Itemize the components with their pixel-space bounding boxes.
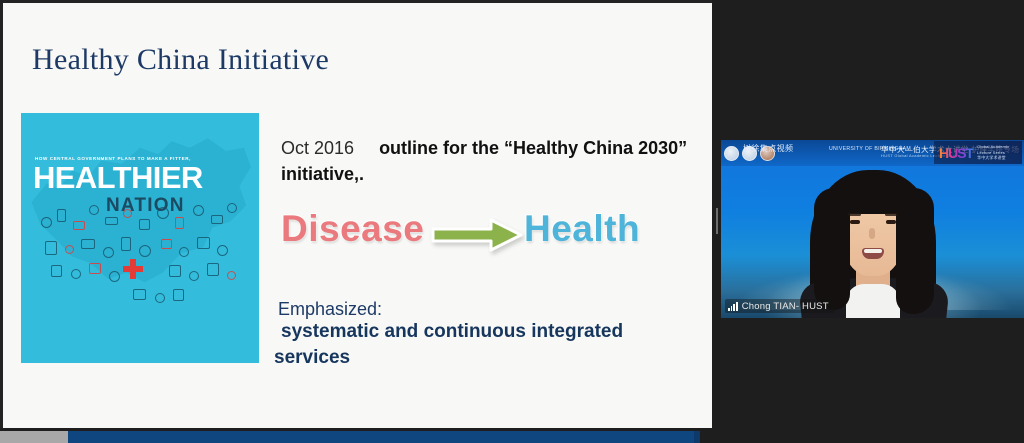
drag-handle-line <box>716 208 718 234</box>
hair-right <box>896 188 934 314</box>
emphasis-line-2: services <box>274 345 681 371</box>
mouth <box>862 248 884 259</box>
hust-series-line-3: 华中大学术讲堂 <box>977 155 1006 160</box>
progress-bar-end-cap <box>694 431 700 443</box>
hair-left <box>814 188 850 310</box>
eyebrow-right <box>885 213 898 216</box>
emphasis-body: systematic and continuous integrated ser… <box>281 319 681 370</box>
participant-name-label: Chong TIAN- HUST <box>742 301 829 312</box>
hust-logo-block: HUST Global Academic Lecture Series 华中大学… <box>934 141 1022 164</box>
eye-right <box>886 220 896 224</box>
intro-date: Oct 2016 <box>281 138 354 158</box>
seal-logo-icon <box>724 146 739 161</box>
virtual-background-banner: 树徐集点视频 UNIVERSITY OF BIRMINGHAM 华中大—伯大学术… <box>721 140 1024 166</box>
disease-to-health-row: Disease Health <box>281 208 681 258</box>
infographic-subhead: NATION <box>106 195 185 217</box>
intro-trailing: ,. <box>354 164 364 184</box>
progress-bar-blue-segment <box>68 431 694 443</box>
right-arrow-icon <box>431 218 523 252</box>
shirt <box>846 284 900 318</box>
participant-video-tile[interactable]: 树徐集点视频 UNIVERSITY OF BIRMINGHAM 华中大—伯大学术… <box>721 140 1024 318</box>
healthier-nation-infographic: How central government plans to make a f… <box>21 113 259 363</box>
nose <box>869 228 875 239</box>
audio-level-bars-icon <box>728 302 738 311</box>
hust-series-text: Global Academic Lecture Series 华中大学术讲堂 <box>977 144 1009 162</box>
page-title: Healthy China Initiative <box>32 43 329 77</box>
infographic-headline: HEALTHIER <box>33 163 203 192</box>
hust-series-line-2: Lecture Series <box>977 150 1005 155</box>
emphasis-line-1: systematic and continuous integrated <box>281 321 623 342</box>
hust-series-line-1: Global Academic <box>977 144 1009 149</box>
shared-screen-slide[interactable]: Healthy China Initiative <box>0 0 712 428</box>
disease-label: Disease <box>281 208 424 250</box>
participant-avatar <box>798 164 948 318</box>
progress-bar-gray-segment <box>0 431 68 443</box>
hust-wordmark: HUST <box>939 146 973 160</box>
slide-canvas: Healthy China Initiative <box>3 3 712 428</box>
intro-paragraph: Oct 2016 outline for the “Healthy China … <box>281 136 691 187</box>
eye-left <box>850 220 860 224</box>
participant-name-badge: Chong TIAN- HUST <box>725 299 835 313</box>
health-label: Health <box>524 208 640 250</box>
emphasis-label: Emphasized: <box>278 299 382 320</box>
eyebrow-left <box>848 213 861 216</box>
banner-chinese-title: 树徐集点视频 <box>743 143 793 154</box>
